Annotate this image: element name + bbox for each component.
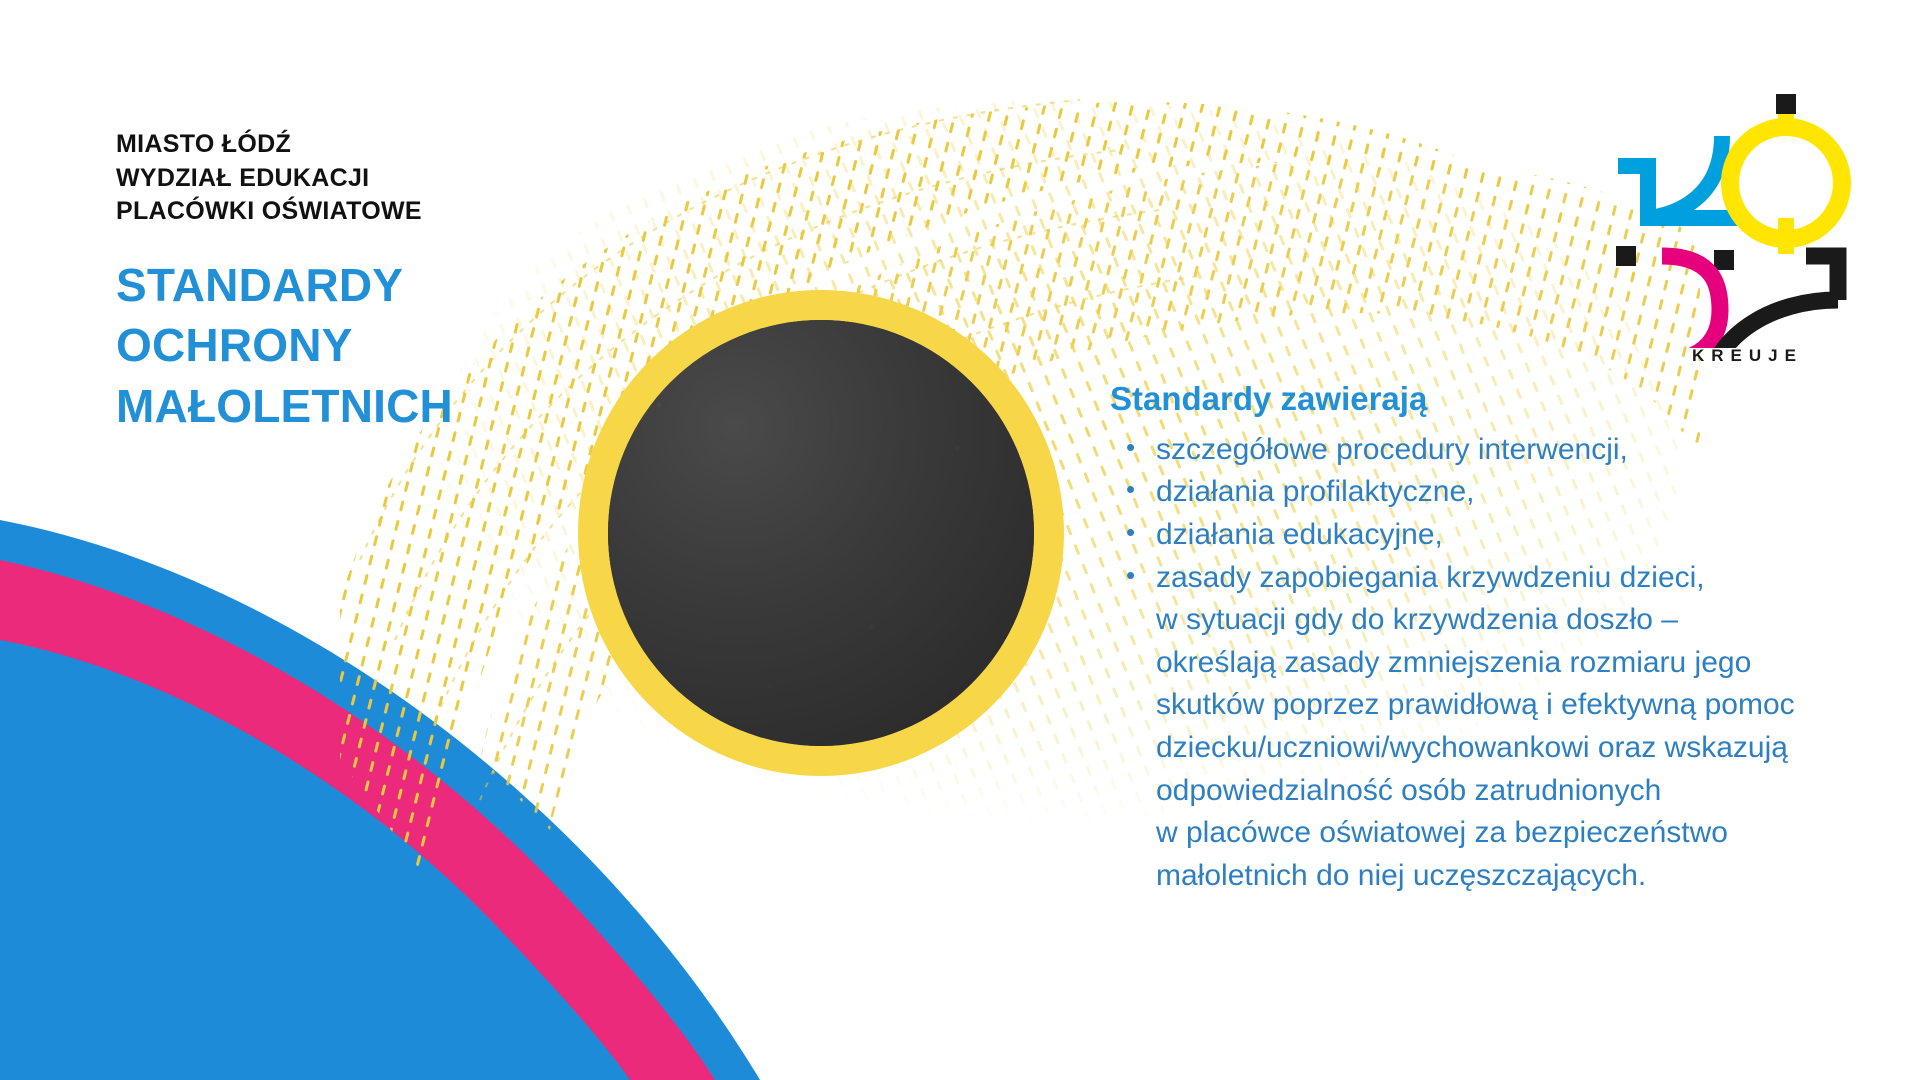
title-line-2: OCHRONY (116, 315, 676, 376)
title-line-1: STANDARDY (116, 255, 676, 316)
list-item: działania profilaktyczne, (1110, 471, 1820, 514)
lodz-logo-icon (1610, 78, 1880, 348)
chalkboard-texture (608, 320, 1034, 746)
paragraph-line: w sytuacji gdy do krzywdzenia doszło – (1156, 599, 1820, 642)
title-line-3: MAŁOLETNICH (116, 376, 676, 437)
paragraph-line: określają zasady zmniejszenia rozmiaru j… (1156, 642, 1820, 685)
lodz-kreuje-logo: KREUJE (1610, 78, 1880, 428)
paragraph-line: w placówce oświatowej za bezpieczeństwo (1156, 812, 1820, 855)
org-line-3: PLACÓWKI OŚWIATOWE (116, 195, 676, 229)
org-line-2: WYDZIAŁ EDUKACJI (116, 162, 676, 196)
content-block: Standardy zawierają szczegółowe procedur… (1110, 378, 1820, 897)
photo-image (608, 320, 1034, 746)
paragraph-line: małoletnich do niej uczęszczających. (1156, 855, 1820, 898)
list-item: szczegółowe procedury interwencji, (1110, 429, 1820, 472)
page-title: STANDARDY OCHRONY MAŁOLETNICH (116, 255, 676, 437)
logo-wordmark: KREUJE (1692, 346, 1803, 366)
slide-root: MIASTO ŁÓDŹ WYDZIAŁ EDUKACJI PLACÓWKI OŚ… (0, 0, 1920, 1080)
continuation-paragraph: w sytuacji gdy do krzywdzenia doszło – o… (1110, 599, 1820, 897)
org-line-1: MIASTO ŁÓDŹ (116, 128, 676, 162)
list-item: działania edukacyjne, (1110, 514, 1820, 557)
photo-circle-frame (578, 290, 1064, 776)
paragraph-line: dziecku/uczniowi/wychowankowi oraz wskaz… (1156, 727, 1820, 770)
standards-list: szczegółowe procedury interwencji, dział… (1110, 429, 1820, 599)
list-item: zasady zapobiegania krzywdzeniu dzieci, (1110, 557, 1820, 600)
paragraph-line: odpowiedzialność osób zatrudnionych (1156, 770, 1820, 813)
paragraph-line: skutków poprzez prawidłową i efektywną p… (1156, 684, 1820, 727)
headline-block: MIASTO ŁÓDŹ WYDZIAŁ EDUKACJI PLACÓWKI OŚ… (116, 128, 676, 437)
